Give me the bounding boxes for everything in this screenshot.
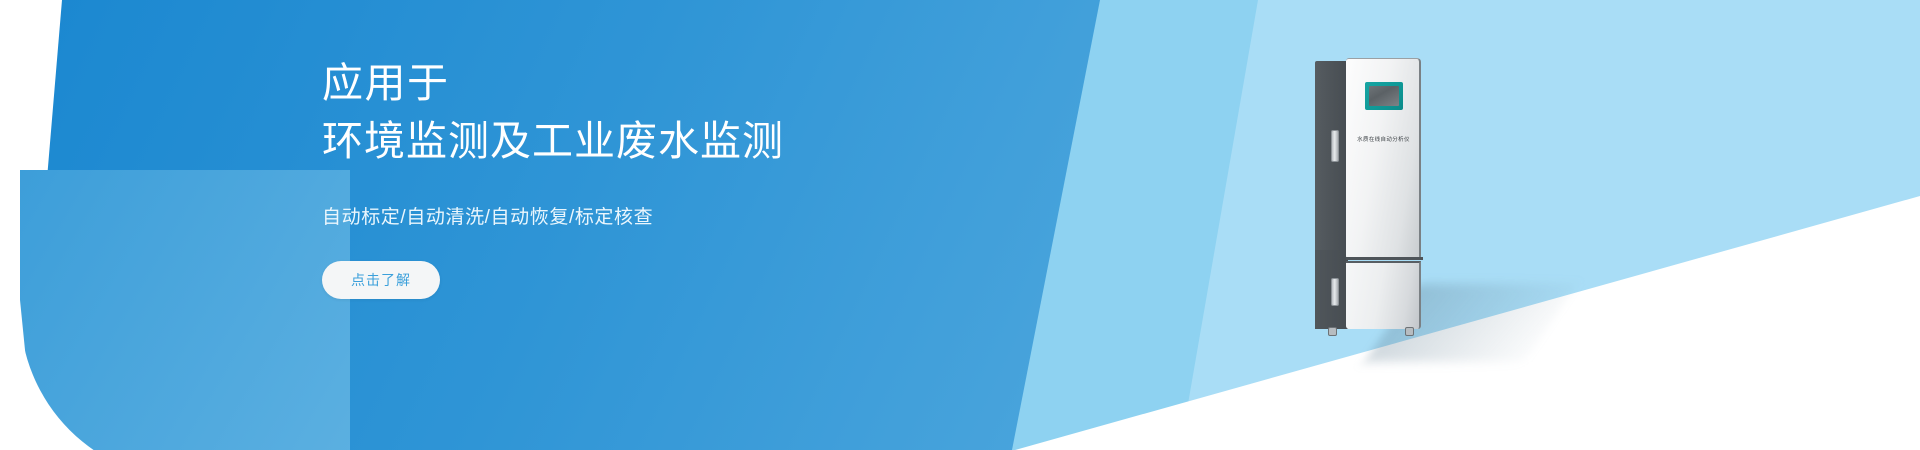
display-panel-icon [1365,82,1403,110]
background-blob-rounded-corner [20,170,350,450]
hero-subtitle: 自动标定/自动清洗/自动恢复/标定核查 [322,202,1082,229]
cta-learn-more-button[interactable]: 点击了解 [322,261,440,299]
headline-line-2: 环境监测及工业废水监测 [322,112,1082,170]
caster-wheel-icon [1328,327,1337,336]
device-cabinet-lower [1346,261,1421,329]
hero-content: 应用于 环境监测及工业废水监测 自动标定/自动清洗/自动恢复/标定核查 点击了解 [322,0,1082,450]
hero-headline: 应用于 环境监测及工业废水监测 [322,54,1082,170]
device-screen-glass [1369,86,1399,106]
headline-line-1: 应用于 [322,54,1082,112]
caster-wheel-icon [1405,327,1414,336]
device-front-label: 水质在线自动分析仪 [1344,136,1423,143]
drawer-handle-icon [1331,278,1339,306]
cabinet-handle-icon [1331,130,1339,162]
hero-banner: 应用于 环境监测及工业废水监测 自动标定/自动清洗/自动恢复/标定核查 点击了解… [0,0,1920,450]
device-seam-divider [1346,257,1423,260]
product-device-image: 水质在线自动分析仪 [1305,52,1495,362]
